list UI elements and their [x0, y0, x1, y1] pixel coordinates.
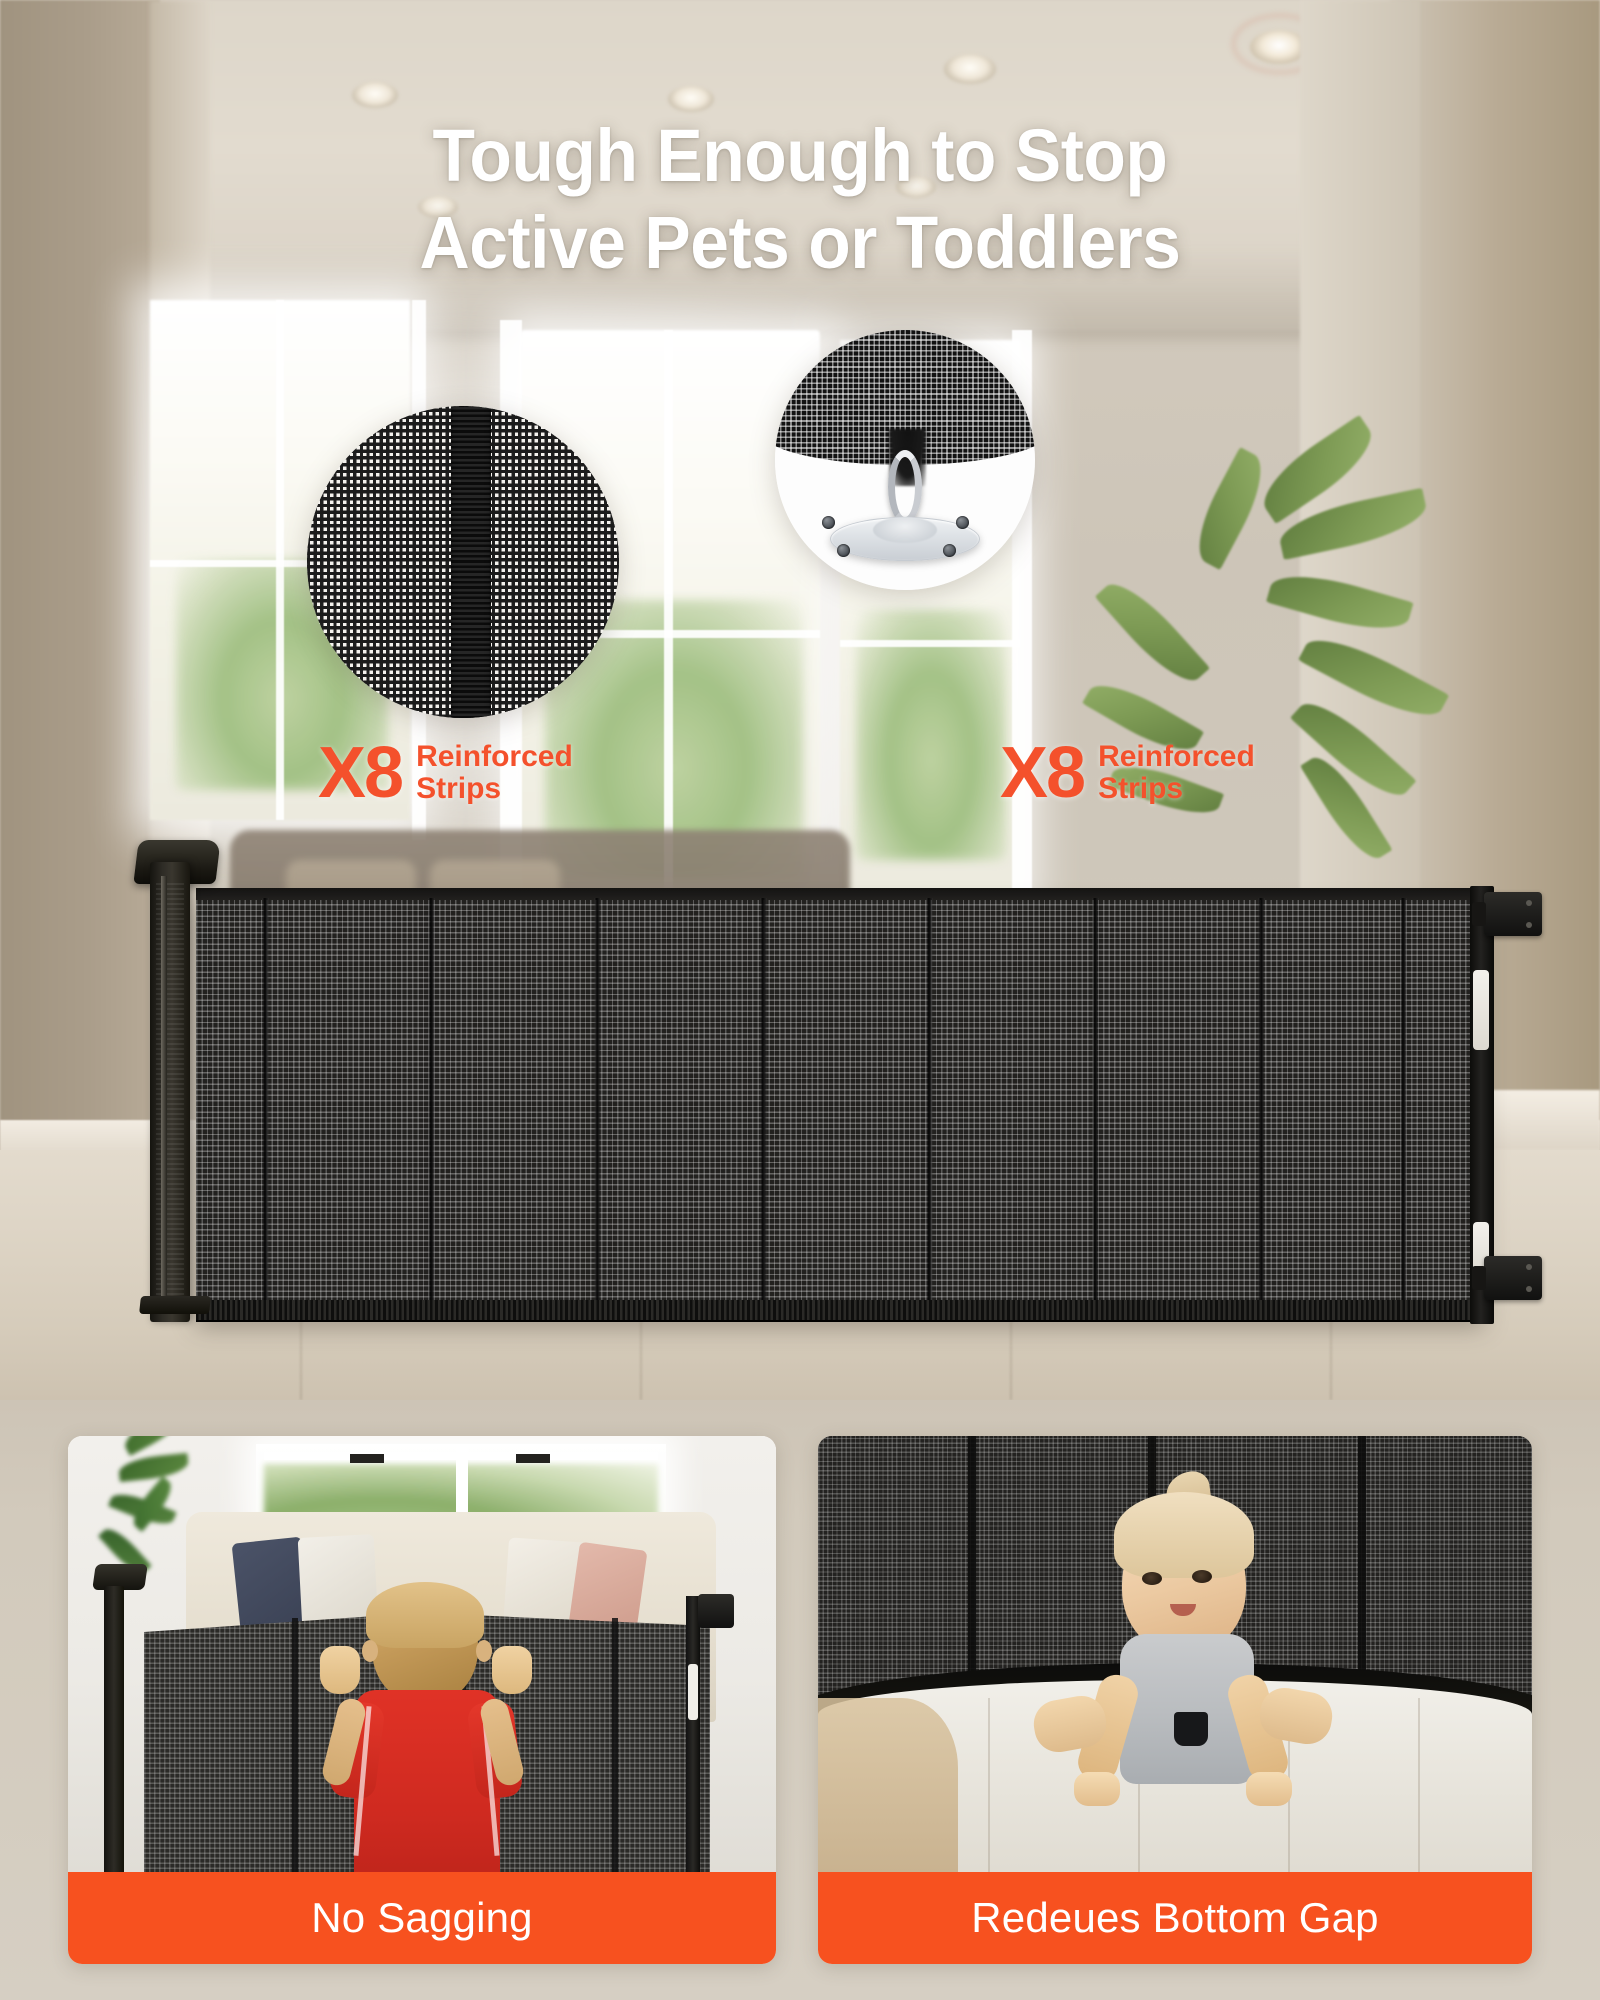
gate-rib	[262, 898, 269, 1316]
window-mullion	[276, 300, 284, 820]
panel-caption-reduces-bottom-gap: Redeues Bottom Gap	[818, 1872, 1532, 1964]
gate-housing-post	[104, 1586, 124, 1872]
product-marketing-image: Tough Enough to Stop Active Pets or Todd…	[0, 0, 1600, 2000]
gate-end-post	[686, 1596, 700, 1872]
hero-scene: Tough Enough to Stop Active Pets or Todd…	[0, 0, 1600, 1400]
gate-housing-foot	[139, 1296, 211, 1314]
baby-eye	[1192, 1570, 1212, 1583]
feature-label-reinforced-strips-right: X8 Reinforced Strips	[1000, 740, 1255, 806]
benefit-panels: No Sagging	[0, 1400, 1600, 2000]
wall-bracket-bottom	[1484, 1256, 1542, 1300]
headline-line-1: Tough Enough to Stop	[48, 112, 1552, 199]
recessed-light-icon	[352, 82, 398, 108]
reinforced-strip	[451, 406, 492, 718]
toddler-ear	[362, 1640, 378, 1662]
gate-latch-tab	[1473, 970, 1489, 1050]
wall-bracket	[698, 1594, 734, 1628]
feature-count: X8	[318, 740, 402, 806]
feature-text-line-1: Reinforced	[416, 741, 573, 773]
feature-text-line-1: Reinforced	[1098, 741, 1255, 773]
baby-hand	[1074, 1772, 1120, 1806]
toddler-pushing-gate	[336, 1586, 516, 1872]
feature-count: X8	[1000, 740, 1084, 806]
headline-line-2: Active Pets or Toddlers	[48, 199, 1552, 286]
feature-circle-anchor-plate	[775, 330, 1035, 590]
onesie-logo	[1174, 1712, 1208, 1746]
feature-circle-mesh-strip	[307, 406, 619, 718]
gate-rib	[1092, 898, 1099, 1316]
gate-rib	[612, 1618, 618, 1872]
gate-rib	[968, 1436, 976, 1706]
feature-label-reinforced-strips-left: X8 Reinforced Strips	[318, 740, 573, 806]
gate-bottom-hem	[196, 1300, 1484, 1322]
panel-photo	[68, 1436, 776, 1872]
feature-text: Reinforced Strips	[416, 741, 573, 805]
gate-rib	[428, 898, 435, 1316]
window-mullion	[840, 640, 1020, 647]
crawling-baby	[1070, 1484, 1300, 1864]
gate-rib	[926, 898, 933, 1316]
outdoor-greenery	[856, 610, 1006, 860]
plate-center-knot	[873, 517, 937, 543]
screw-icon	[822, 516, 835, 529]
baby-hand	[1246, 1772, 1292, 1806]
panel-photo	[818, 1436, 1532, 1872]
metal-ring-icon	[888, 450, 922, 524]
panel-caption-no-sagging: No Sagging	[68, 1872, 776, 1964]
window-mullion	[264, 1452, 658, 1460]
screw-icon	[943, 544, 956, 557]
toddler-hand	[492, 1646, 532, 1694]
window-latch	[516, 1454, 550, 1463]
recessed-light-icon	[944, 54, 996, 84]
page-title: Tough Enough to Stop Active Pets or Todd…	[48, 112, 1552, 287]
gate-rib	[1400, 898, 1407, 1316]
baby-eye	[1142, 1572, 1162, 1585]
feature-text-line-2: Strips	[1098, 773, 1255, 805]
recessed-light-icon	[668, 86, 714, 112]
toddler-hand	[320, 1646, 360, 1694]
toddler-hair	[366, 1582, 484, 1648]
gate-latch-tab	[688, 1664, 698, 1720]
screw-icon	[837, 544, 850, 557]
gate-mesh-panel	[196, 900, 1484, 1320]
gate-rib	[594, 898, 601, 1316]
gate-rib	[1258, 898, 1265, 1316]
gate-rib	[760, 898, 767, 1316]
feature-text-line-2: Strips	[416, 773, 573, 805]
gate-rib	[292, 1618, 298, 1872]
benefit-panel-no-sagging[interactable]: No Sagging	[68, 1436, 776, 1964]
wall-bracket-top	[1484, 892, 1542, 936]
house-plant	[1180, 470, 1480, 930]
window-latch	[350, 1454, 384, 1463]
gate-rib	[1358, 1436, 1366, 1706]
benefit-panel-reduces-bottom-gap[interactable]: Redeues Bottom Gap	[818, 1436, 1532, 1964]
feature-text: Reinforced Strips	[1098, 741, 1255, 805]
gate-tension-rod	[161, 876, 167, 1302]
screw-icon	[956, 516, 969, 529]
toddler-ear	[476, 1640, 492, 1662]
baby-hair	[1114, 1492, 1254, 1578]
wood-floor-edge	[818, 1698, 958, 1872]
